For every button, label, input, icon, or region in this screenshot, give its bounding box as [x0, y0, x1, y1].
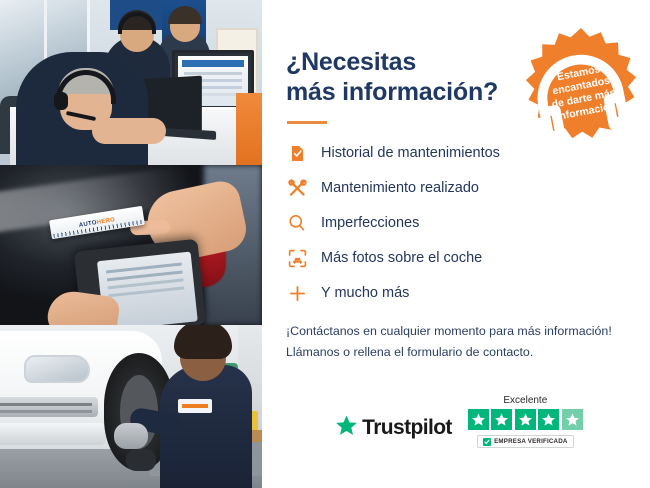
page-title-line-2: más información?	[286, 78, 498, 106]
headset-earcup	[54, 92, 68, 110]
photo-collage: AUTOHERO	[0, 0, 262, 488]
contact-text: ¡Contáctanos en cualquier momento para m…	[286, 321, 626, 364]
star-rating	[468, 409, 583, 430]
feature-list: Historial de mantenimientos Mantenimient…	[286, 142, 626, 304]
badge-text: Estamos encantados de darte más informac…	[512, 16, 650, 154]
verified-check-icon	[483, 438, 491, 446]
feature-label: Y mucho más	[321, 286, 409, 301]
page-title-line-1: ¿Necesitas	[286, 48, 416, 76]
uniform-logo	[178, 399, 212, 413]
work-glove-dark	[126, 449, 156, 471]
star-3	[515, 409, 536, 430]
car-scan-icon	[286, 247, 308, 269]
magnifier-icon	[286, 212, 308, 234]
contact-line-1: ¡Contáctanos en cualquier momento para m…	[286, 324, 612, 338]
star-1	[468, 409, 489, 430]
call-center-agents-photo	[0, 0, 262, 165]
trustpilot-score-block: Excelente	[468, 395, 583, 448]
trustpilot-star-icon	[335, 414, 358, 442]
rating-label: Excelente	[503, 395, 547, 406]
feature-label: Más fotos sobre el coche	[321, 251, 482, 266]
orange-equipment	[236, 93, 262, 165]
mechanic-tire-inspection-photo	[0, 325, 262, 488]
work-glove	[114, 423, 148, 449]
verified-label: EMPRESA VERIFICADA	[494, 438, 568, 445]
star-4	[538, 409, 559, 430]
front-grille	[0, 397, 98, 417]
trustpilot-wordmark: Trustpilot	[362, 416, 452, 440]
trustpilot-rating: Trustpilot Excelente	[286, 395, 632, 448]
ruler-brand-text: AUTOHERO	[78, 217, 115, 229]
feature-item-imperfections: Imperfecciones	[286, 212, 626, 234]
car-inspection-ruler-photo: AUTOHERO	[0, 165, 262, 325]
content-panel: ¿Necesitas más información? Historial de…	[262, 0, 650, 488]
contact-line-2: Llámanos o rellena el formulario de cont…	[286, 345, 533, 359]
mechanic-hair	[174, 325, 232, 359]
agent-arm	[92, 118, 166, 144]
promo-badge: Estamos encantados de darte más informac…	[522, 26, 640, 144]
feature-label: Imperfecciones	[321, 216, 419, 231]
verified-business-badge: EMPRESA VERIFICADA	[477, 435, 574, 448]
page-title: ¿Necesitas más información?	[286, 48, 521, 107]
front-bumper	[0, 423, 106, 445]
feature-label: Mantenimiento realizado	[321, 181, 479, 196]
title-underline-accent	[287, 121, 327, 124]
trustpilot-logo[interactable]: Trustpilot	[335, 414, 452, 448]
document-check-icon	[286, 142, 308, 164]
feature-item-maintenance-done: Mantenimiento realizado	[286, 177, 626, 199]
feature-item-much-more: Y mucho más	[286, 282, 626, 304]
headlight	[24, 355, 90, 383]
feature-label: Historial de mantenimientos	[321, 146, 500, 161]
star-5	[562, 409, 583, 430]
star-2	[491, 409, 512, 430]
mechanic	[160, 365, 252, 488]
plus-icon	[286, 282, 308, 304]
information-banner: AUTOHERO	[0, 0, 650, 488]
feature-item-more-photos: Más fotos sobre el coche	[286, 247, 626, 269]
tools-icon	[286, 177, 308, 199]
agent-foreground	[16, 52, 148, 165]
